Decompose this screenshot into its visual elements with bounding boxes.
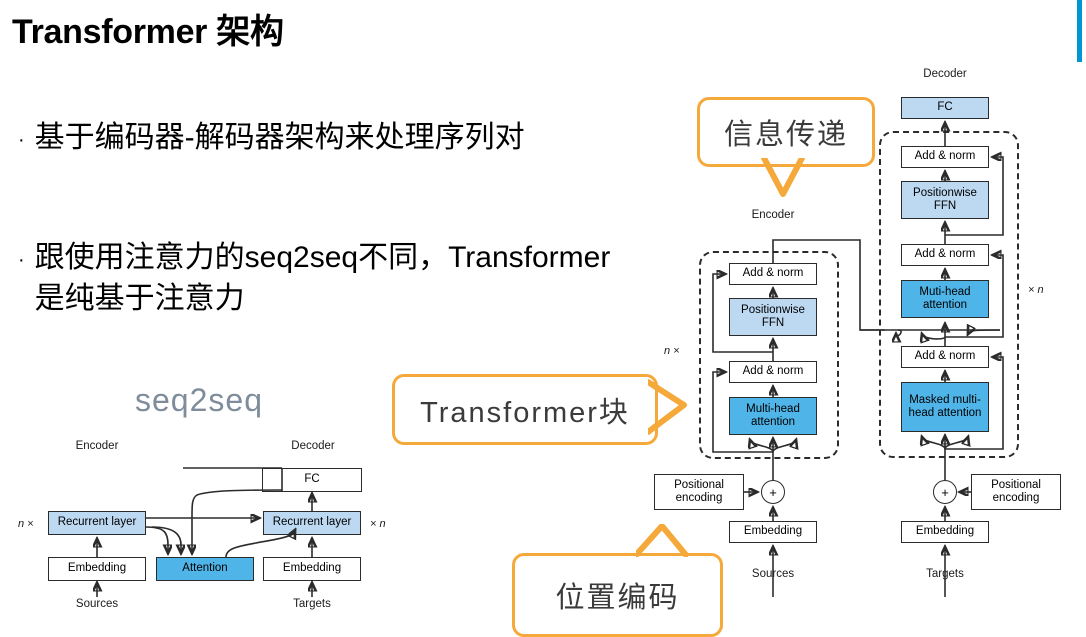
- bullet-marker: ·: [18, 130, 25, 150]
- transformer-decoder-repeat-label: × n: [1028, 284, 1044, 296]
- slide-accent-bar: [1077, 0, 1082, 62]
- encoder-positionwise-ffn-node: Positionwise FFN: [729, 298, 817, 336]
- transformer-encoder-label: Encoder: [732, 209, 814, 221]
- decoder-multi-head-attention-node: Muti-head attention: [901, 280, 989, 318]
- bullet-text: 基于编码器-解码器架构来处理序列对: [35, 118, 525, 159]
- encoder-embedding-node: Embedding: [729, 521, 817, 543]
- decoder-embedding-node: Embedding: [901, 521, 989, 543]
- seq2seq-sources-label: Sources: [56, 598, 138, 610]
- decoder-add-norm-top-node: Add & norm: [901, 146, 989, 168]
- decoder-add-norm-bottom-node: Add & norm: [901, 346, 989, 368]
- seq2seq-attention-node: Attention: [156, 557, 254, 581]
- seq2seq-encoder-recurrent-node: Recurrent layer: [48, 511, 146, 535]
- page-title: Transformer 架构: [12, 4, 284, 53]
- bullet-text: 跟使用注意力的seq2seq不同，Transformer是纯基于注意力: [35, 238, 638, 319]
- seq2seq-fc-node: FC: [262, 468, 362, 492]
- seq2seq-encoder-label: Encoder: [56, 440, 138, 452]
- encoder-add-operator: +: [761, 480, 785, 504]
- callout-transformer-block-text: Transformer块: [420, 389, 630, 431]
- decoder-targets-label: Targets: [904, 568, 986, 580]
- seq2seq-targets-label: Targets: [271, 598, 353, 610]
- seq2seq-decoder-label: Decoder: [272, 440, 354, 452]
- decoder-masked-multi-head-attention-node: Masked multi-head attention: [901, 382, 989, 432]
- seq2seq-title: seq2seq: [135, 382, 263, 419]
- transformer-decoder-label: Decoder: [904, 68, 986, 80]
- callout-info-transfer-text: 信息传递: [724, 111, 848, 153]
- seq2seq-decoder-embedding-node: Embedding: [263, 557, 361, 581]
- seq2seq-encoder-repeat-label: n ×: [18, 518, 34, 530]
- bullet-item-2: · 跟使用注意力的seq2seq不同，Transformer是纯基于注意力: [18, 238, 638, 319]
- bullet-marker: ·: [18, 250, 25, 270]
- transformer-encoder-repeat-label: n ×: [664, 345, 680, 357]
- callout-info-transfer: 信息传递: [697, 97, 875, 167]
- encoder-sources-label: Sources: [732, 568, 814, 580]
- callout-transformer-block-tail: [648, 378, 690, 436]
- encoder-add-norm-bottom-node: Add & norm: [729, 361, 817, 383]
- callout-positional-encoding-text: 位置编码: [555, 574, 679, 616]
- seq2seq-decoder-recurrent-node: Recurrent layer: [263, 511, 361, 535]
- seq2seq-decoder-repeat-label: × n: [370, 518, 386, 530]
- decoder-positional-encoding-node: Positional encoding: [971, 474, 1061, 510]
- callout-transformer-block: Transformer块: [392, 374, 658, 445]
- decoder-add-operator: +: [933, 480, 957, 504]
- decoder-positionwise-ffn-node: Positionwise FFN: [901, 181, 989, 219]
- decoder-add-norm-mid-node: Add & norm: [901, 244, 989, 266]
- callout-positional-encoding-tail: [636, 524, 688, 557]
- seq2seq-encoder-embedding-node: Embedding: [48, 557, 146, 581]
- encoder-add-norm-top-node: Add & norm: [729, 263, 817, 285]
- bullet-item-1: · 基于编码器-解码器架构来处理序列对: [18, 118, 638, 159]
- encoder-multi-head-attention-node: Multi-head attention: [729, 397, 817, 435]
- encoder-positional-encoding-node: Positional encoding: [654, 474, 744, 510]
- callout-info-transfer-tail: [760, 158, 806, 198]
- callout-positional-encoding: 位置编码: [512, 553, 723, 637]
- decoder-fc-node: FC: [901, 97, 989, 119]
